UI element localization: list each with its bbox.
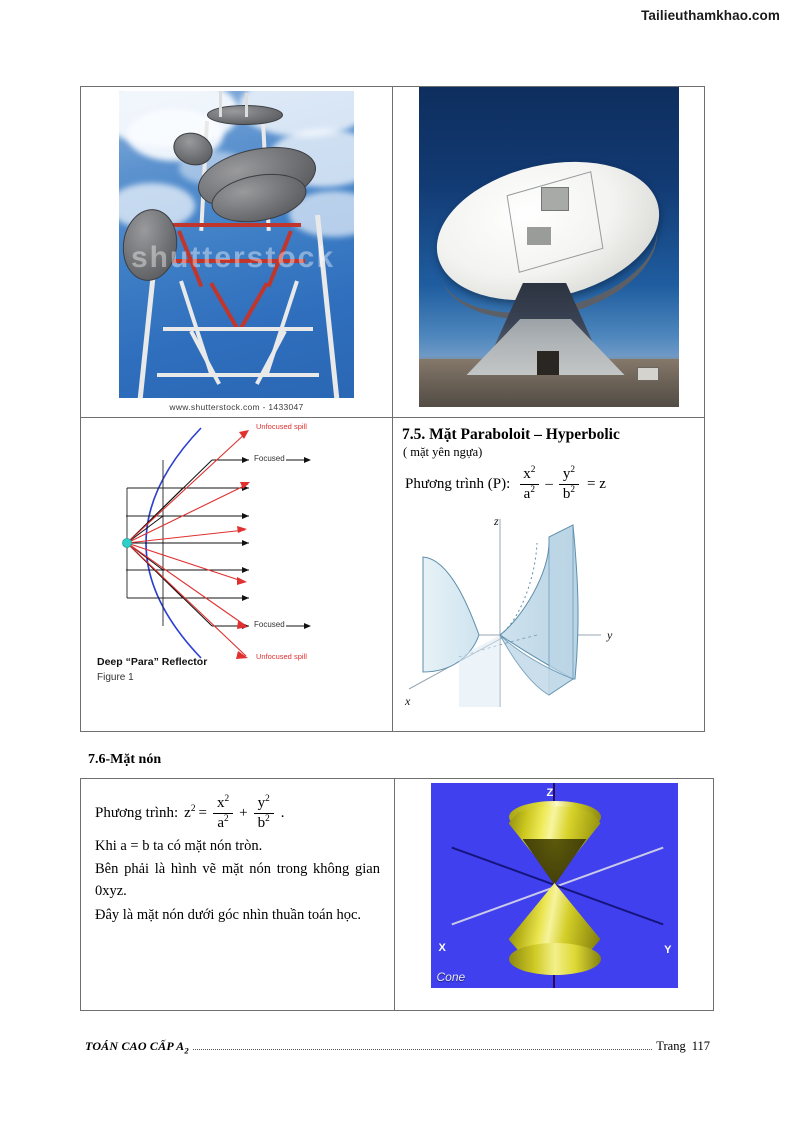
label-unfocused-spill-top: Unfocused spill xyxy=(256,422,307,431)
tower-photo-container: shutterstock www.shutterstock.com - 1433… xyxy=(81,87,392,417)
reflector-figure-number: Figure 1 xyxy=(97,672,134,683)
frac-den-a-exp: 2 xyxy=(530,485,535,495)
label-focused-bottom: Focused xyxy=(254,620,285,629)
frac-den-b-exp: 2 xyxy=(570,485,575,495)
cell-cone-text: Phương trình: z2 = x2 a2 + y2 b2 . Khi a… xyxy=(81,779,395,1011)
cell-cone-image: Z X Y Cone xyxy=(395,779,714,1011)
tower-photo-caption: www.shutterstock.com - 1433047 xyxy=(81,398,392,417)
focus-point xyxy=(123,539,132,548)
page-footer: TOÁN CAO CẤP A2 Trang117 xyxy=(85,1039,710,1055)
section-7-5-heading: 7.5. Mặt Paraboloit – Hyperbolic xyxy=(402,426,696,444)
svg-text:x: x xyxy=(404,694,411,708)
table-row: Unfocused spill Focused Focused Unfocuse… xyxy=(81,418,705,732)
frac-num-x: x xyxy=(523,466,531,482)
cone-bottom-ellipse xyxy=(509,943,601,975)
table-row: shutterstock www.shutterstock.com - 1433… xyxy=(81,87,705,418)
cell-satellite-photo xyxy=(393,87,705,418)
footer-dot-leader xyxy=(193,1048,652,1050)
equation-lhs-z: z2 xyxy=(184,802,195,825)
section-7-6-line-3: Đây là mặt nón dưới góc nhìn thuần toán … xyxy=(95,905,380,927)
section-7-6-line-2: Bên phải là hình vẽ mặt nón trong không … xyxy=(95,859,380,903)
equation-label-7-6: Phương trình: xyxy=(95,802,178,825)
fraction-x2-a2: x2 a2 xyxy=(519,466,539,503)
frac-num-y-exp: 2 xyxy=(570,465,575,475)
cone-axis-label-y: Y xyxy=(664,944,671,956)
satellite-building-door xyxy=(537,351,559,375)
satellite-dish-photo xyxy=(419,87,679,407)
satellite-subreflector xyxy=(527,227,551,245)
cone-section-table: Phương trình: z2 = x2 a2 + y2 b2 . Khi a… xyxy=(80,778,714,1011)
fraction-y2-b2: y2 b2 xyxy=(559,466,579,503)
table-row: Phương trình: z2 = x2 a2 + y2 b2 . Khi a… xyxy=(81,779,714,1011)
reflector-figure-title: Deep “Para” Reflector xyxy=(97,656,207,668)
footer-page-number: Trang117 xyxy=(656,1039,710,1054)
satellite-feed-horn xyxy=(541,187,569,211)
footer-document-title: TOÁN CAO CẤP A2 xyxy=(85,1039,189,1055)
cone-3d-figure: Z X Y Cone xyxy=(431,783,678,988)
equation-label-7-5: Phương trình (P): xyxy=(405,476,510,493)
equation-period: . xyxy=(281,802,285,825)
equation-operator-minus: – xyxy=(545,476,553,493)
equation-operator-plus: + xyxy=(239,802,247,825)
cone-axis-label-z: Z xyxy=(547,787,554,799)
section-7-6-equation: Phương trình: z2 = x2 a2 + y2 b2 . xyxy=(95,795,380,832)
top-figures-table: shutterstock www.shutterstock.com - 1433… xyxy=(80,86,705,732)
section-7-6-text: Phương trình: z2 = x2 a2 + y2 b2 . Khi a… xyxy=(81,779,394,939)
section-7-6-line-1: Khi a = b ta có mặt nón tròn. xyxy=(95,836,380,858)
label-focused-top: Focused xyxy=(254,454,285,463)
label-unfocused-spill-bottom: Unfocused spill xyxy=(256,652,307,661)
radio-tower-photo: shutterstock xyxy=(119,91,354,398)
section-7-5-body: 7.5. Mặt Paraboloit – Hyperbolic ( mặt y… xyxy=(393,418,704,731)
satellite-small-shed xyxy=(637,367,659,381)
svg-text:y: y xyxy=(606,628,613,642)
cell-tower-photo: shutterstock www.shutterstock.com - 1433… xyxy=(81,87,393,418)
cell-reflector-diagram: Unfocused spill Focused Focused Unfocuse… xyxy=(81,418,393,732)
frac-num-x-exp: 2 xyxy=(531,465,536,475)
cone-figure-label: Cone xyxy=(437,970,466,984)
equation-equals: = xyxy=(198,802,206,825)
section-7-5-subheading: ( mặt yên ngựa) xyxy=(403,445,696,460)
shutterstock-watermark: shutterstock xyxy=(131,241,335,275)
equation-equals-z: = z xyxy=(587,476,606,493)
section-7-6-heading: 7.6-Mặt nón xyxy=(88,752,161,768)
deep-para-reflector-figure: Unfocused spill Focused Focused Unfocuse… xyxy=(81,418,392,708)
cone-axis-label-x: X xyxy=(439,942,446,954)
saddle-svg: z y x xyxy=(401,507,697,715)
cell-section-7-5: 7.5. Mặt Paraboloit – Hyperbolic ( mặt y… xyxy=(393,418,705,732)
hyperbolic-paraboloid-figure: z y x xyxy=(401,507,701,717)
fraction-x2-a2-cone: x2 a2 xyxy=(213,795,233,832)
svg-text:z: z xyxy=(493,514,499,528)
fraction-y2-b2-cone: y2 b2 xyxy=(254,795,274,832)
site-watermark: Tailieuthamkhao.com xyxy=(641,8,780,23)
reflector-svg xyxy=(81,418,392,668)
section-7-5-equation: Phương trình (P): x2 a2 – y2 b2 = z xyxy=(405,466,696,503)
